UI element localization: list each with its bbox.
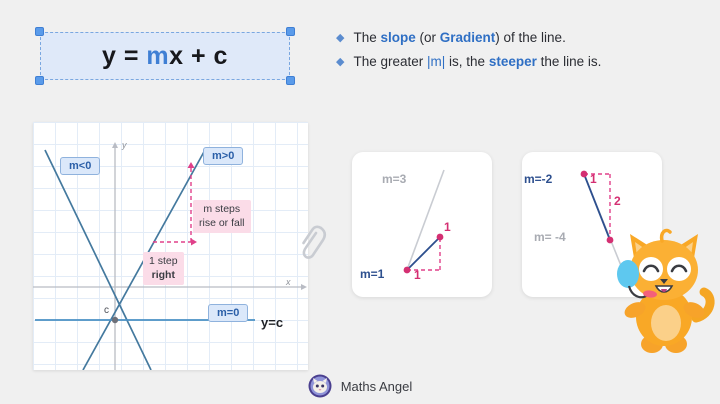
label-rise-2: 2	[614, 194, 621, 208]
label-m-equals-minus-4: m= -4	[534, 230, 566, 244]
main-graph-card: m<0 m>0 m=0 m steps rise or fall 1 step …	[33, 122, 308, 370]
annotation-rise-line2: rise or fall	[199, 217, 245, 229]
resize-handle-bottom-left[interactable]	[35, 76, 44, 85]
bullet-2-text: The greater |m| is, the steeper the line…	[353, 54, 601, 71]
keyword-steeper: steeper	[489, 54, 537, 69]
resize-handle-top-left[interactable]	[35, 27, 44, 36]
x-axis-arrow	[301, 284, 307, 290]
paperclip-icon	[301, 224, 333, 264]
label-m-equals-minus-2: m=-2	[524, 172, 552, 186]
line-equation-label-yc: y=c	[261, 315, 283, 330]
formula-text: y = mx + c	[102, 42, 228, 71]
formula-variable-m: m	[146, 42, 169, 70]
y-axis-arrow	[112, 142, 118, 148]
keyword-abs-m: |m|	[427, 54, 445, 69]
intercept-label-c: c	[104, 305, 109, 316]
run-arrow	[191, 239, 197, 246]
keyword-slope: slope	[380, 30, 415, 45]
rise-arrow	[188, 162, 195, 168]
card-positive-slopes: m=1 m=3 1 1	[352, 152, 492, 297]
line-m-negative	[45, 150, 151, 370]
intercept-point	[112, 317, 118, 323]
annotation-step-line1: 1 step	[149, 255, 178, 267]
label-m-equals-3: m=3	[382, 172, 406, 186]
formula-suffix: x + c	[169, 42, 228, 70]
label-m-equals-1: m=1	[360, 267, 384, 281]
footer-brand-text: Maths Angel	[341, 379, 413, 394]
bullet-list: ◆ The slope (or Gradient) of the line. ◆…	[336, 30, 712, 78]
annotation-rise-or-fall: m steps rise or fall	[193, 200, 251, 233]
annotation-rise-line1: m steps	[203, 203, 240, 215]
formula-textbox[interactable]: y = mx + c	[40, 32, 290, 80]
footer: Maths Angel	[0, 374, 720, 398]
slide-root: y = mx + c ◆ The slope (or Gradient) of …	[0, 0, 720, 404]
label-run-1: 1	[590, 172, 597, 186]
diamond-bullet-icon: ◆	[336, 30, 344, 47]
tag-m-positive: m>0	[203, 147, 243, 165]
annotation-one-step-right: 1 step right	[143, 252, 184, 285]
x-axis-label: x	[286, 277, 291, 287]
orange-cat-mascot	[600, 214, 718, 354]
line-slope-3	[407, 170, 444, 270]
formula-textbox-selection[interactable]: y = mx + c	[40, 32, 290, 80]
diamond-bullet-icon: ◆	[336, 54, 344, 71]
tag-m-negative: m<0	[60, 157, 100, 175]
y-axis-label: y	[122, 140, 127, 150]
point-start	[581, 171, 588, 178]
label-run-1: 1	[414, 268, 421, 282]
resize-handle-top-right[interactable]	[286, 27, 295, 36]
resize-handle-bottom-right[interactable]	[286, 76, 295, 85]
point-origin	[404, 267, 411, 274]
label-rise-1: 1	[444, 220, 451, 234]
maths-angel-logo-icon	[308, 374, 332, 398]
tag-m-zero: m=0	[208, 304, 248, 322]
annotation-step-line2: right	[149, 269, 178, 283]
keyword-gradient: Gradient	[440, 30, 496, 45]
point-end	[437, 234, 444, 241]
line-slope-1	[407, 237, 440, 270]
bullet-1-text: The slope (or Gradient) of the line.	[353, 30, 565, 47]
list-item: ◆ The slope (or Gradient) of the line.	[336, 30, 712, 47]
formula-prefix: y =	[102, 42, 146, 70]
list-item: ◆ The greater |m| is, the steeper the li…	[336, 54, 712, 71]
